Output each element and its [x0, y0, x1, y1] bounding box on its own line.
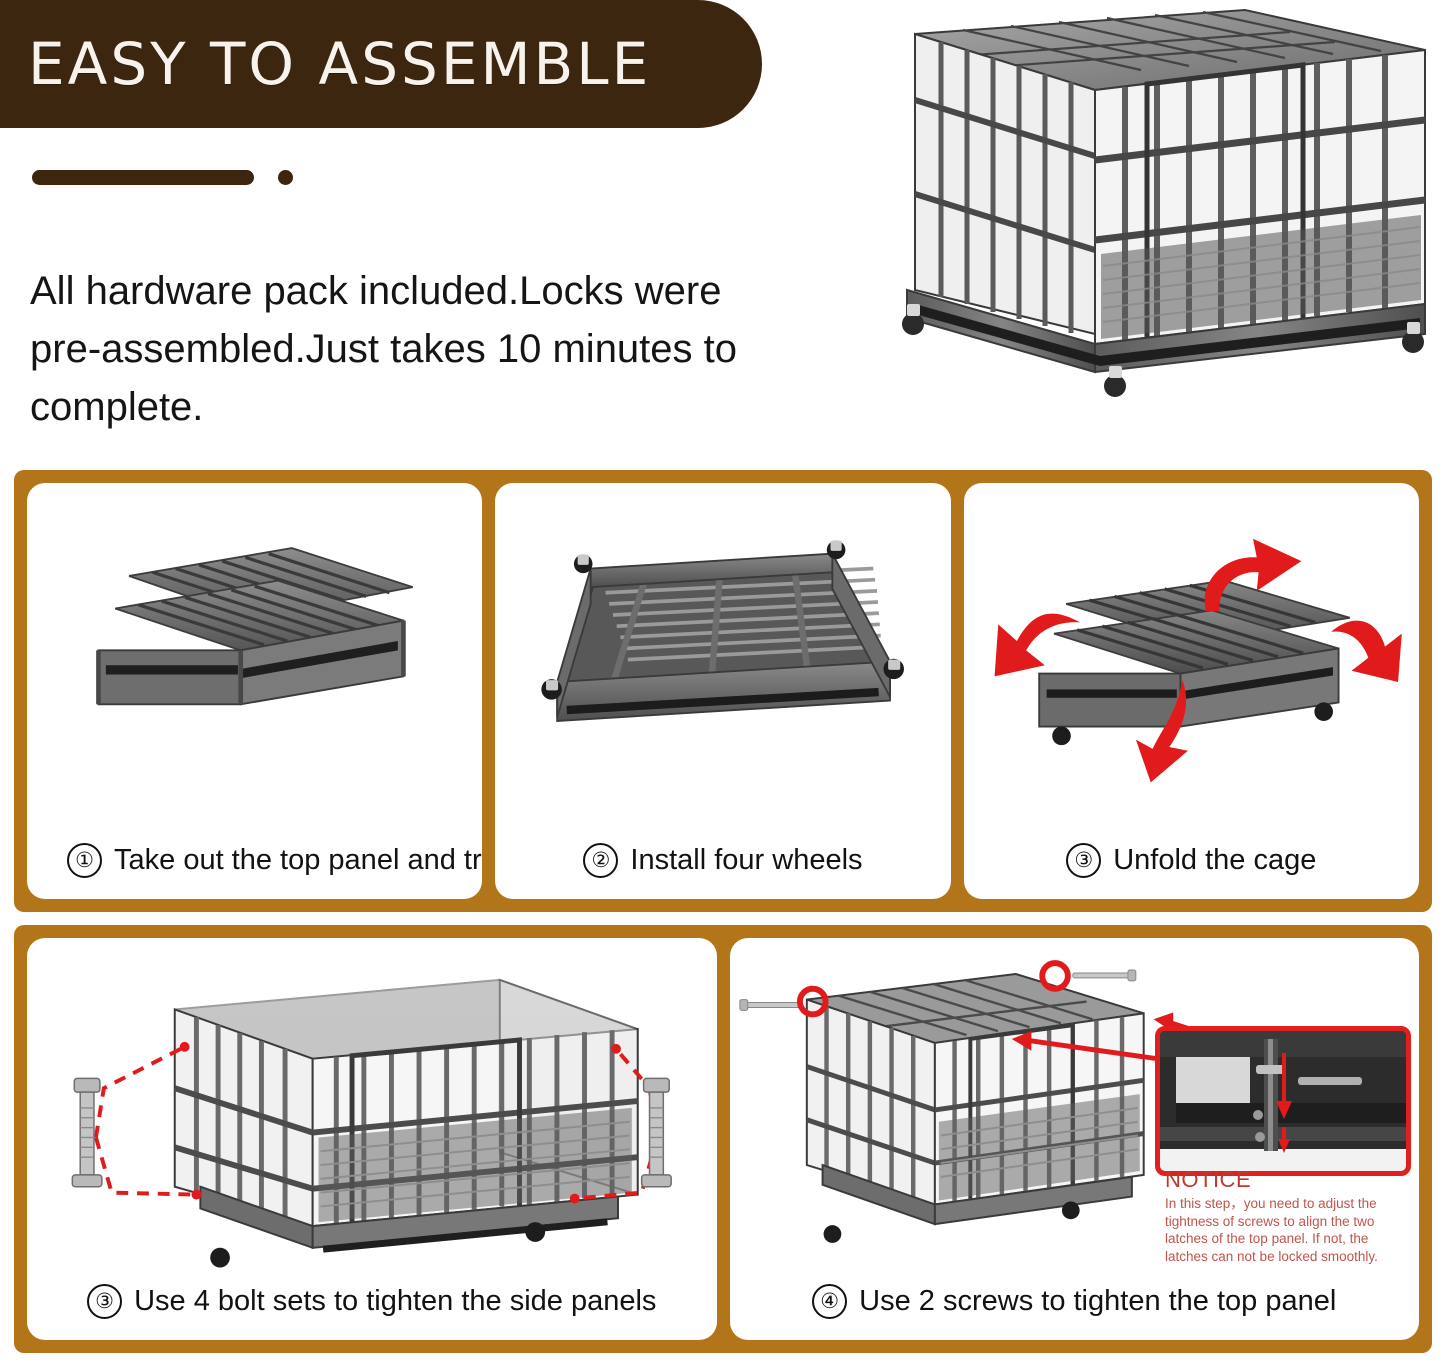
steps-row-bottom: ③ Use 4 bolt sets to tighten the side pa… [14, 925, 1432, 1353]
step-2-image [495, 483, 950, 827]
step-5-caption: ④ Use 2 screws to tighten the top panel [730, 1276, 1420, 1326]
step-1-image [27, 483, 482, 827]
intro-paragraph: All hardware pack included.Locks were pr… [30, 262, 780, 436]
hero-product-photo [885, 4, 1441, 429]
step-1-number: ① [67, 843, 102, 878]
rule-bar [32, 170, 254, 185]
rule-dot [278, 170, 293, 185]
step-4-caption: ③ Use 4 bolt sets to tighten the side pa… [27, 1276, 717, 1326]
step-5-number: ④ [812, 1284, 847, 1319]
step-3-number: ③ [1066, 843, 1101, 878]
step-2-label: Install four wheels [630, 844, 862, 877]
bolt-right [642, 1078, 672, 1186]
step-card-1[interactable]: ① Take out the top panel and tray [27, 483, 482, 899]
step-2-caption: ② Install four wheels [495, 835, 950, 885]
notice-body: In this step，you need to adjust the tigh… [1165, 1195, 1411, 1266]
step-3-image [964, 483, 1419, 827]
step-card-4[interactable]: ③ Use 4 bolt sets to tighten the side pa… [27, 938, 717, 1340]
step-1-caption: ① Take out the top panel and tray [27, 835, 482, 885]
step-card-5[interactable]: NOTICE In this step，you need to adjust t… [730, 938, 1420, 1340]
step-card-3[interactable]: ③ Unfold the cage [964, 483, 1419, 899]
step-card-2[interactable]: ② Install four wheels [495, 483, 950, 899]
step-1-label: Take out the top panel and tray [114, 844, 482, 877]
screw-left [739, 1000, 800, 1011]
latch-detail-inset [1155, 1026, 1411, 1176]
steps-row-top: ① Take out the top panel and tray [14, 470, 1432, 912]
notice-title: NOTICE [1165, 1167, 1411, 1193]
step-4-label: Use 4 bolt sets to tighten the side pane… [134, 1285, 656, 1318]
step-4-number: ③ [87, 1284, 122, 1319]
decorative-rule [32, 170, 293, 185]
screw-right [1072, 970, 1135, 981]
header-banner: EASY TO ASSEMBLE [0, 0, 762, 128]
page-title: EASY TO ASSEMBLE [28, 30, 651, 98]
notice-block: NOTICE In this step，you need to adjust t… [1165, 1167, 1411, 1266]
step-3-caption: ③ Unfold the cage [964, 835, 1419, 885]
step-3-label: Unfold the cage [1113, 844, 1316, 877]
step-5-label: Use 2 screws to tighten the top panel [859, 1285, 1336, 1318]
step-2-number: ② [583, 843, 618, 878]
step-4-image [27, 938, 717, 1268]
